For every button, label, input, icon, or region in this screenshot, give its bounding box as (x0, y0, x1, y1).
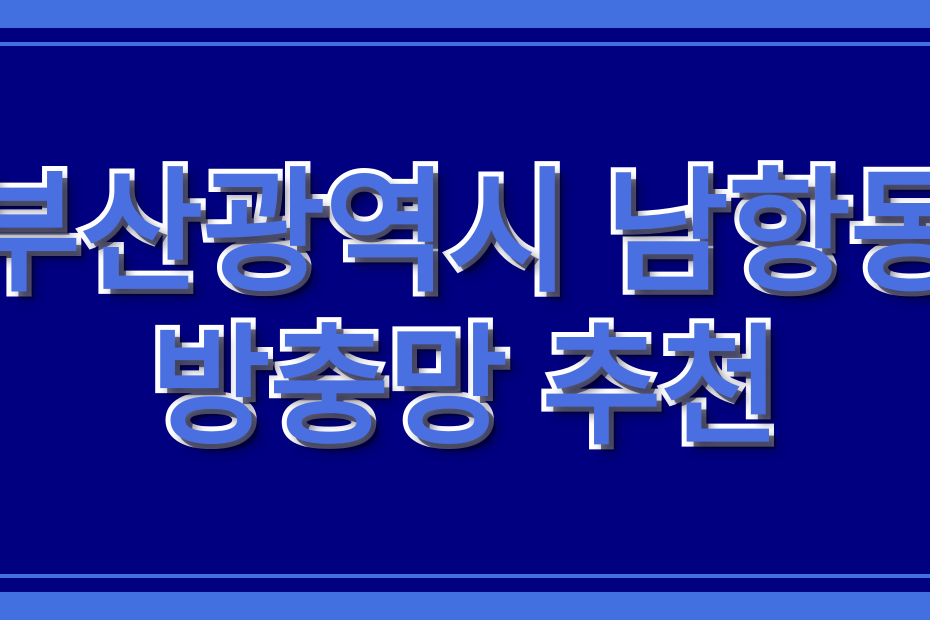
headline-block: 부산광역시 남항동 방충망 추천 (0, 0, 930, 620)
thumbnail-canvas: 부산광역시 남항동 방충망 추천 (0, 0, 930, 620)
headline-line-1: 부산광역시 남항동 (0, 159, 930, 309)
headline-line-2: 방충망 추천 (151, 315, 779, 461)
